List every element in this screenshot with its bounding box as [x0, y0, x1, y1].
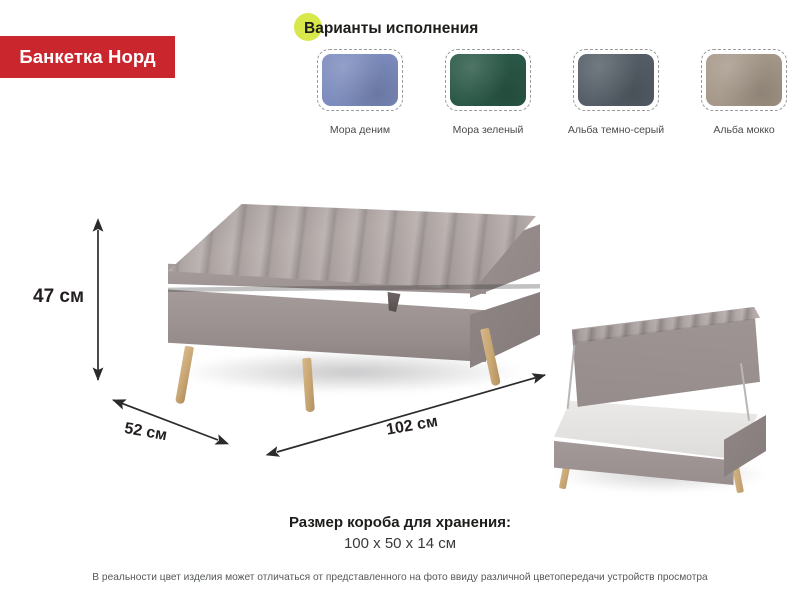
- variant-swatch-row: Мора деним Мора зеленый Альба темно-серы…: [296, 49, 800, 136]
- swatch-label: Альба мокко: [713, 124, 774, 136]
- width-dimension-label: 102 см: [385, 413, 439, 440]
- bench-closed-image: [152, 196, 552, 411]
- swatch-frame: [317, 49, 403, 111]
- infographic-canvas: Банкетка Норд Варианты исполнения Мора д…: [0, 0, 800, 600]
- variant-swatch-0[interactable]: Мора деним: [296, 49, 424, 136]
- swatch-color-chip: [578, 54, 654, 106]
- storage-size-block: Размер короба для хранения: 100 x 50 x 1…: [0, 514, 800, 552]
- swatch-color-chip: [322, 54, 398, 106]
- bench-open-image: [548, 305, 776, 505]
- variants-heading: Варианты исполнения: [296, 17, 478, 41]
- color-disclaimer: В реальности цвет изделия может отличать…: [0, 572, 800, 583]
- swatch-frame: [573, 49, 659, 111]
- swatch-frame: [445, 49, 531, 111]
- swatch-label: Мора деним: [330, 124, 390, 136]
- storage-size-title: Размер короба для хранения:: [0, 514, 800, 531]
- height-dimension-label: 47 см: [33, 286, 84, 308]
- swatch-frame: [701, 49, 787, 111]
- product-title: Банкетка Норд: [19, 46, 155, 68]
- variant-swatch-1[interactable]: Мора зеленый: [424, 49, 552, 136]
- swatch-color-chip: [450, 54, 526, 106]
- depth-dimension-label: 52 см: [123, 420, 168, 445]
- lid-hinge: [567, 345, 576, 409]
- variants-heading-label: Варианты исполнения: [296, 20, 478, 38]
- storage-size-value: 100 x 50 x 14 см: [0, 535, 800, 552]
- variant-swatch-3[interactable]: Альба мокко: [680, 49, 800, 136]
- variant-swatch-2[interactable]: Альба темно-серый: [552, 49, 680, 136]
- swatch-label: Мора зеленый: [453, 124, 524, 136]
- swatch-label: Альба темно-серый: [568, 124, 664, 136]
- product-title-badge: Банкетка Норд: [0, 36, 175, 78]
- swatch-color-chip: [706, 54, 782, 106]
